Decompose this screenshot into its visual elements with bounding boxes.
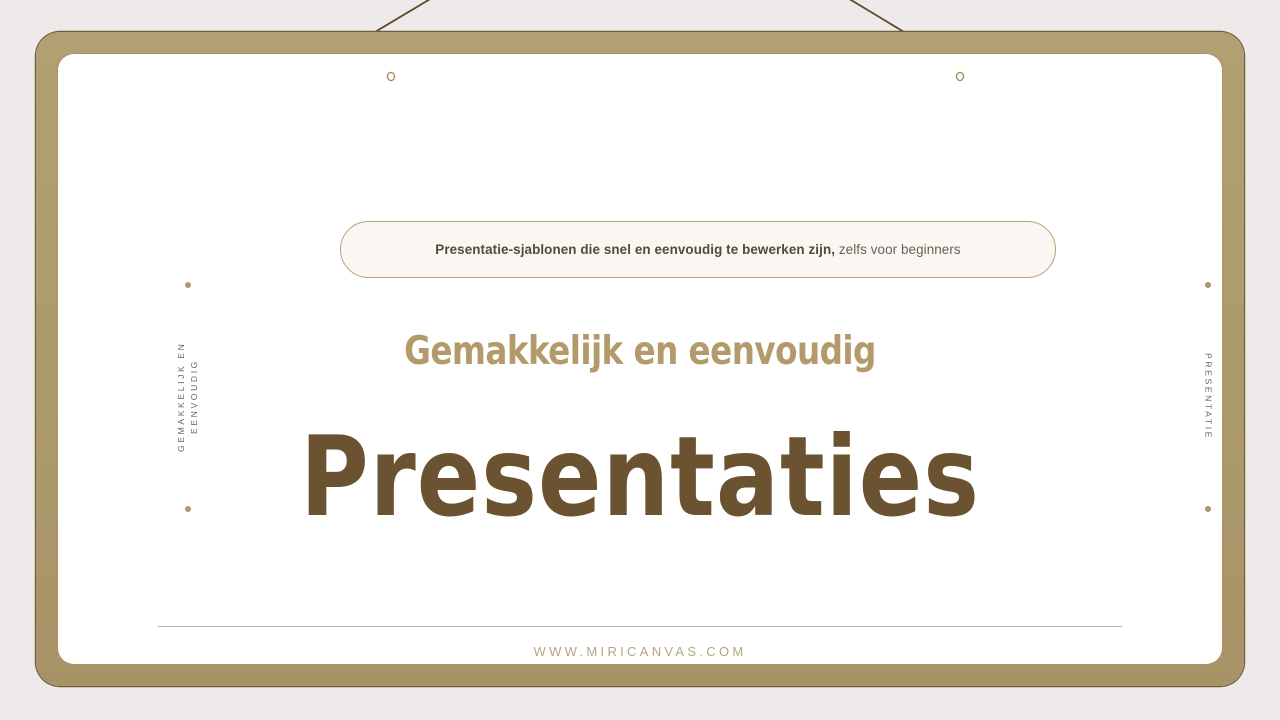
tagline-text: Presentatie-sjablonen die snel en eenvou…	[435, 242, 960, 257]
footer-website-url: WWW.MIRICANVAS.COM	[58, 644, 1222, 659]
sign-frame: Presentatie-sjablonen die snel en eenvou…	[36, 32, 1244, 686]
right-vertical-rail: PRESENTATIE	[1188, 282, 1222, 512]
slide-title: Presentaties	[58, 422, 1222, 532]
left-rail-text-wrap: GEMAKKELIJK EN EENVOUDIG	[168, 288, 208, 506]
slide-canvas: Presentatie-sjablonen die snel en eenvou…	[58, 54, 1222, 664]
hanging-eyelet-right	[956, 72, 964, 81]
left-rail-label: GEMAKKELIJK EN EENVOUDIG	[175, 304, 201, 490]
right-rail-label: PRESENTATIE	[1202, 353, 1215, 440]
rail-dot-bottom-left	[185, 506, 191, 512]
tagline-light-part: zelfs voor beginners	[835, 242, 961, 257]
footer-divider	[158, 626, 1122, 627]
tagline-bold-part: Presentatie-sjablonen die snel en eenvou…	[435, 242, 835, 257]
tagline-banner: Presentatie-sjablonen die snel en eenvou…	[340, 221, 1056, 278]
right-rail-text-wrap: PRESENTATIE	[1188, 288, 1222, 506]
hanging-eyelet-left	[387, 72, 395, 81]
slide-subtitle: Gemakkelijk en eenvoudig	[99, 332, 1182, 371]
rail-dot-bottom-right	[1205, 506, 1211, 512]
left-vertical-rail: GEMAKKELIJK EN EENVOUDIG	[168, 282, 208, 512]
